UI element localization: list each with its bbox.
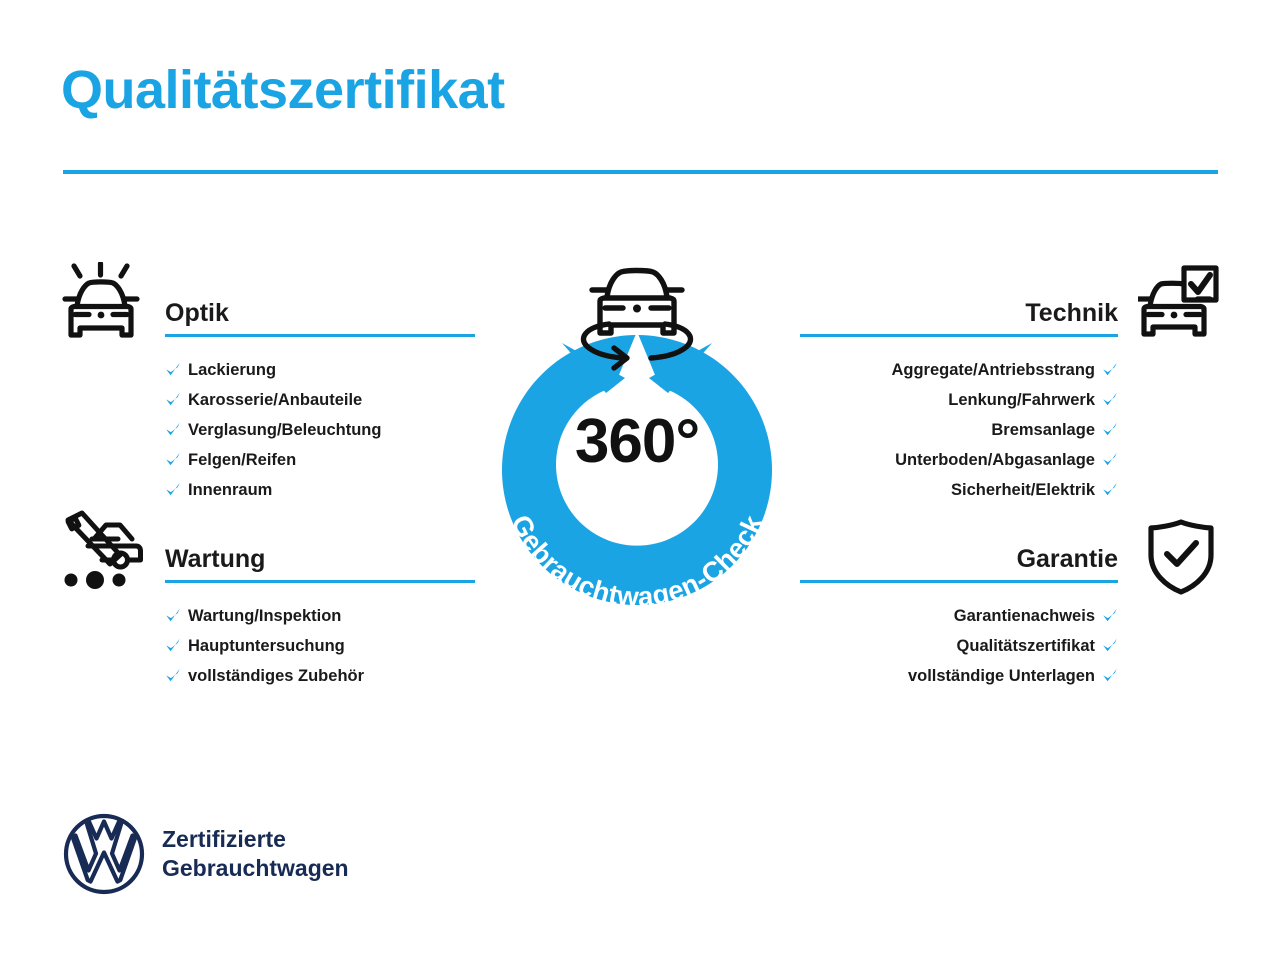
check-icon <box>1102 391 1118 409</box>
list-item: Lenkung/Fahrwerk <box>800 385 1118 415</box>
check-icon <box>165 481 181 499</box>
brand-text: Zertifizierte Gebrauchtwagen <box>162 825 349 883</box>
checklist-garantie: Garantienachweis Qualitätszertifikat vol… <box>800 601 1118 691</box>
certificate-page: Qualitätszertifikat <box>0 0 1280 960</box>
list-item: Innenraum <box>165 475 475 505</box>
list-item: Wartung/Inspektion <box>165 601 475 631</box>
section-title-wartung: Wartung <box>165 546 475 572</box>
car-rotate-icon <box>583 271 690 369</box>
list-item: Garantienachweis <box>800 601 1118 631</box>
page-title: Qualitätszertifikat <box>61 62 505 119</box>
checklist-technik: Aggregate/Antriebsstrang Lenkung/Fahrwer… <box>800 355 1118 505</box>
360-check-badge: Gebrauchtwagen-Check 360° <box>457 247 817 627</box>
list-item-label: Garantienachweis <box>954 601 1095 631</box>
list-item: vollständige Unterlagen <box>800 661 1118 691</box>
shield-check-icon <box>1145 518 1217 596</box>
check-icon <box>165 391 181 409</box>
section-divider-technik <box>800 334 1118 337</box>
section-garantie: Garantie Garantienachweis Qualitätszerti… <box>800 546 1118 691</box>
check-icon <box>165 421 181 439</box>
list-item-label: vollständige Unterlagen <box>908 661 1095 691</box>
section-title-optik: Optik <box>165 300 475 326</box>
check-icon <box>1102 667 1118 685</box>
checklist-optik: Lackierung Karosserie/Anbauteile Verglas… <box>165 355 475 505</box>
check-icon <box>1102 607 1118 625</box>
list-item-label: Unterboden/Abgasanlage <box>895 445 1095 475</box>
list-item-label: Hauptuntersuchung <box>188 631 345 661</box>
section-divider-wartung <box>165 580 475 583</box>
list-item: Karosserie/Anbauteile <box>165 385 475 415</box>
section-divider-optik <box>165 334 475 337</box>
car-service-tool-icon <box>58 510 144 592</box>
section-technik: Technik Aggregate/Antriebsstrang Lenkung… <box>800 300 1118 505</box>
list-item: vollständiges Zubehör <box>165 661 475 691</box>
car-shine-icon <box>61 262 141 346</box>
section-title-garantie: Garantie <box>800 546 1118 572</box>
list-item-label: Aggregate/Antriebsstrang <box>891 355 1095 385</box>
check-icon <box>1102 421 1118 439</box>
list-item-label: Lenkung/Fahrwerk <box>948 385 1095 415</box>
list-item: Unterboden/Abgasanlage <box>800 445 1118 475</box>
check-icon <box>1102 451 1118 469</box>
list-item-label: Qualitätszertifikat <box>957 631 1095 661</box>
checklist-wartung: Wartung/Inspektion Hauptuntersuchung vol… <box>165 601 475 691</box>
list-item: Sicherheit/Elektrik <box>800 475 1118 505</box>
list-item: Verglasung/Beleuchtung <box>165 415 475 445</box>
list-item-label: Karosserie/Anbauteile <box>188 385 362 415</box>
list-item-label: Innenraum <box>188 475 272 505</box>
section-divider-garantie <box>800 580 1118 583</box>
section-wartung: Wartung Wartung/Inspektion Hauptuntersuc… <box>165 546 475 691</box>
list-item: Bremsanlage <box>800 415 1118 445</box>
list-item-label: Bremsanlage <box>991 415 1095 445</box>
list-item: Aggregate/Antriebsstrang <box>800 355 1118 385</box>
check-icon <box>1102 637 1118 655</box>
list-item-label: Felgen/Reifen <box>188 445 296 475</box>
brand-lockup: Zertifizierte Gebrauchtwagen <box>62 812 349 896</box>
list-item-label: Sicherheit/Elektrik <box>951 475 1095 505</box>
check-icon <box>1102 361 1118 379</box>
car-checkbox-icon <box>1138 264 1220 344</box>
list-item: Felgen/Reifen <box>165 445 475 475</box>
section-optik: Optik Lackierung Karosserie/Anbauteile V… <box>165 300 475 505</box>
check-icon <box>165 451 181 469</box>
check-icon <box>165 667 181 685</box>
section-title-technik: Technik <box>800 300 1118 326</box>
vw-logo-icon <box>62 812 146 896</box>
list-item: Hauptuntersuchung <box>165 631 475 661</box>
list-item: Qualitätszertifikat <box>800 631 1118 661</box>
list-item-label: Wartung/Inspektion <box>188 601 341 631</box>
check-icon <box>165 361 181 379</box>
check-icon <box>1102 481 1118 499</box>
check-icon <box>165 607 181 625</box>
title-divider <box>63 170 1218 174</box>
list-item-label: Lackierung <box>188 355 276 385</box>
list-item-label: vollständiges Zubehör <box>188 661 364 691</box>
list-item: Lackierung <box>165 355 475 385</box>
check-icon <box>165 637 181 655</box>
list-item-label: Verglasung/Beleuchtung <box>188 415 381 445</box>
